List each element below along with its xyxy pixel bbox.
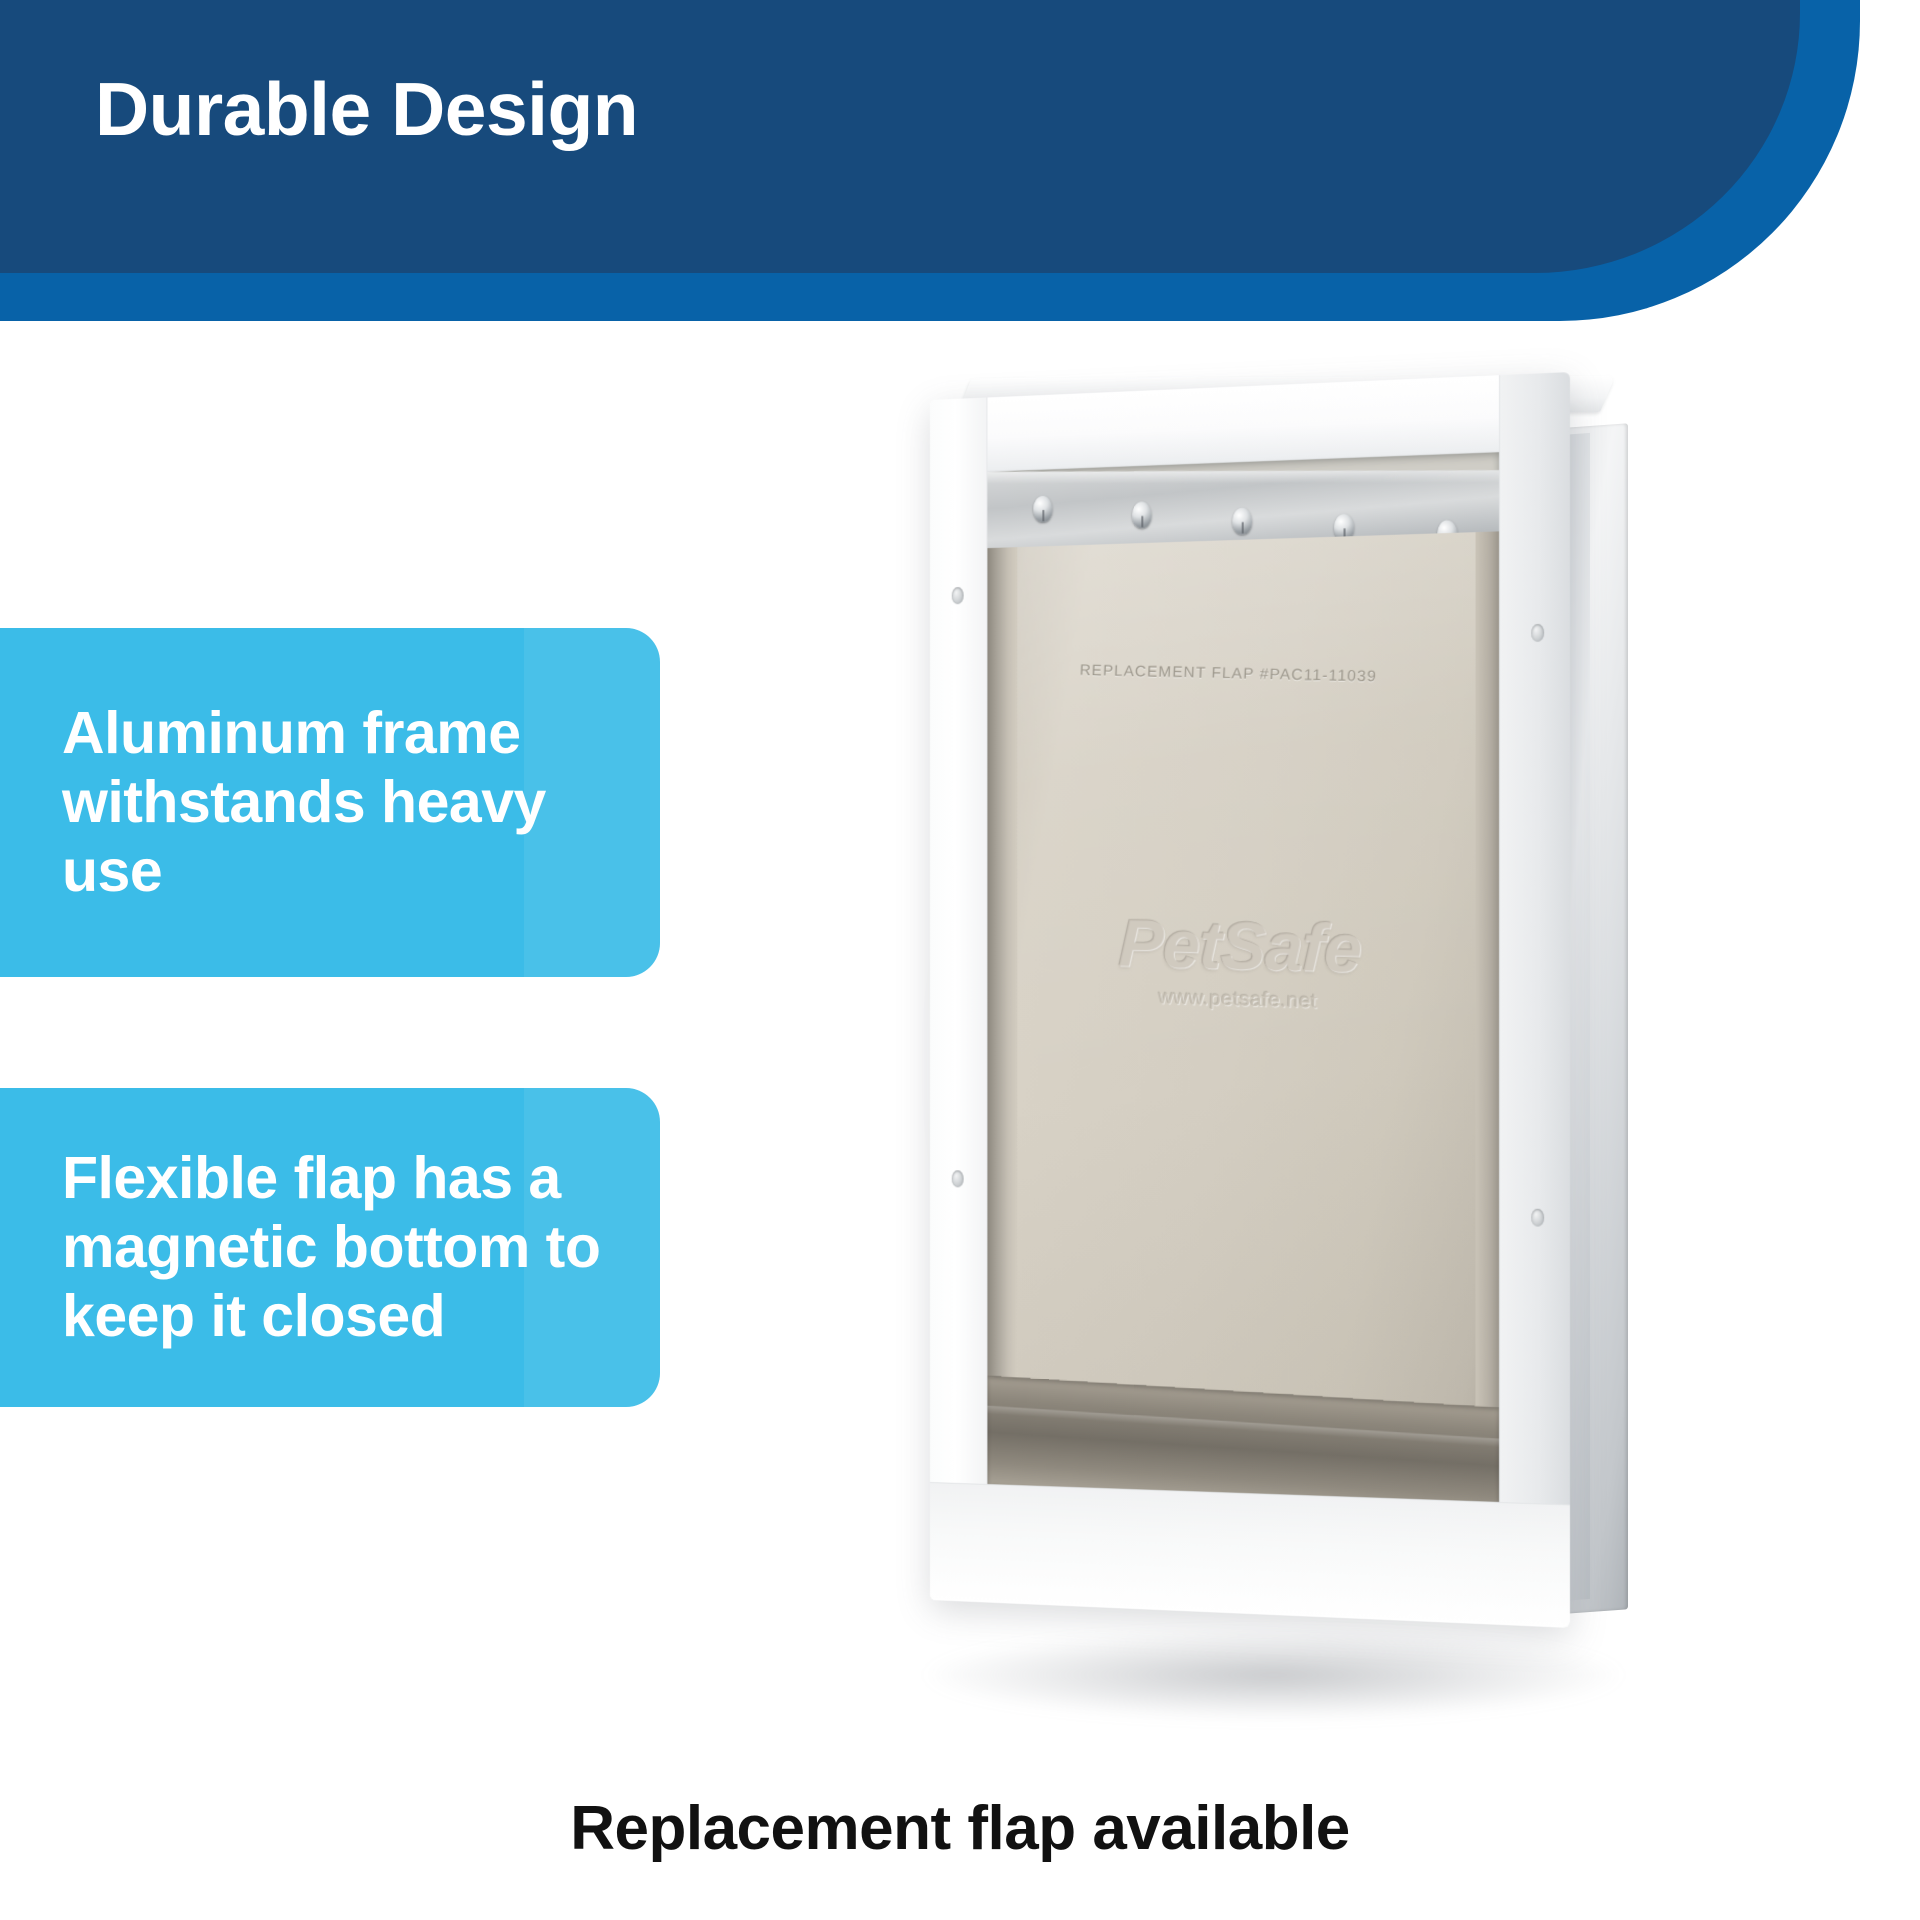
header-banner: Durable Design — [0, 0, 1920, 330]
product-photo: REPLACEMENT FLAP #PAC11-11039 PetSafe ww… — [930, 400, 1750, 1730]
flap-right-edge — [1476, 531, 1499, 1502]
page-title: Durable Design — [95, 72, 638, 147]
feature-callout-label: Flexible flap has a magnetic bottom to k… — [0, 1144, 660, 1350]
frame-right-bevel — [1499, 372, 1570, 1628]
door-opening: REPLACEMENT FLAP #PAC11-11039 PetSafe ww… — [987, 452, 1499, 1502]
flap-left-crease — [987, 547, 1017, 1485]
retainer-screw-icon — [1232, 508, 1252, 535]
flexible-flap: REPLACEMENT FLAP #PAC11-11039 PetSafe ww… — [987, 531, 1499, 1502]
pet-door-unit: REPLACEMENT FLAP #PAC11-11039 PetSafe ww… — [930, 400, 1570, 1608]
frame-mounting-hole — [1531, 1209, 1544, 1227]
frame-front-face: REPLACEMENT FLAP #PAC11-11039 PetSafe ww… — [930, 372, 1570, 1628]
product-floor-shadow — [880, 1615, 1700, 1735]
feature-callout-label: Aluminum frame withstands heavy use — [0, 699, 660, 905]
retainer-screw-icon — [1033, 496, 1052, 522]
retainer-screw-icon — [1132, 502, 1151, 528]
frame-mounting-hole — [952, 1170, 964, 1187]
frame-bottom-bevel — [930, 1482, 1570, 1628]
feature-callout-aluminum-frame: Aluminum frame withstands heavy use — [0, 628, 660, 977]
bottom-caption: Replacement flap available — [0, 1793, 1920, 1864]
feature-callout-magnetic-flap: Flexible flap has a magnetic bottom to k… — [0, 1088, 660, 1407]
frame-left-bevel — [930, 397, 987, 1602]
marketing-infographic: Durable Design Aluminum frame withstands… — [0, 0, 1920, 1920]
